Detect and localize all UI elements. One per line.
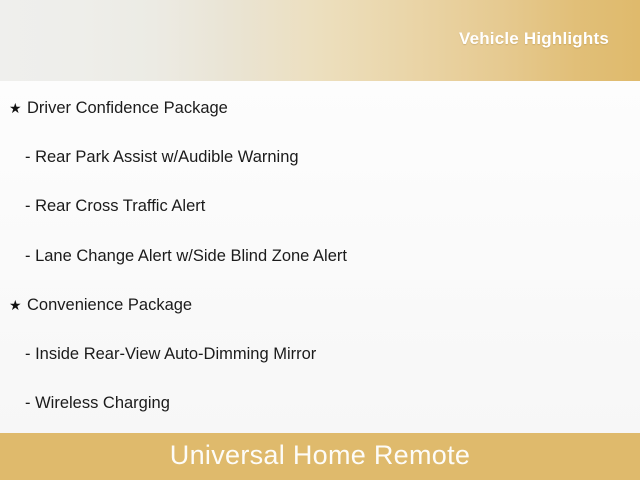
feature-label: - Lane Change Alert w/Side Blind Zone Al… — [25, 247, 347, 266]
list-item: - Rear Park Assist w/Audible Warning — [0, 146, 640, 168]
slide-header: Vehicle Highlights — [0, 0, 640, 81]
feature-label: - Wireless Charging — [25, 394, 170, 413]
vehicle-highlights-slide: Vehicle Highlights ★ Driver Confidence P… — [0, 0, 640, 480]
list-item: ★ Driver Confidence Package — [0, 97, 640, 119]
feature-label: - Rear Park Assist w/Audible Warning — [25, 148, 299, 167]
feature-label: Driver Confidence Package — [27, 99, 228, 118]
list-item: ★ Convenience Package — [0, 294, 640, 316]
footer-title: Universal Home Remote — [170, 440, 470, 471]
list-item: - Rear Cross Traffic Alert — [0, 195, 640, 217]
feature-label: Convenience Package — [27, 296, 192, 315]
list-item: - Lane Change Alert w/Side Blind Zone Al… — [0, 245, 640, 267]
star-icon: ★ — [9, 298, 27, 312]
feature-label: - Rear Cross Traffic Alert — [25, 197, 205, 216]
feature-label: - Inside Rear-View Auto-Dimming Mirror — [25, 345, 316, 364]
slide-footer: Universal Home Remote — [0, 433, 640, 480]
page-title: Vehicle Highlights — [459, 29, 609, 49]
list-item: - Wireless Charging — [0, 392, 640, 414]
star-icon: ★ — [9, 101, 27, 115]
list-item: - Inside Rear-View Auto-Dimming Mirror — [0, 343, 640, 365]
features-panel: ★ Driver Confidence Package - Rear Park … — [0, 81, 640, 433]
